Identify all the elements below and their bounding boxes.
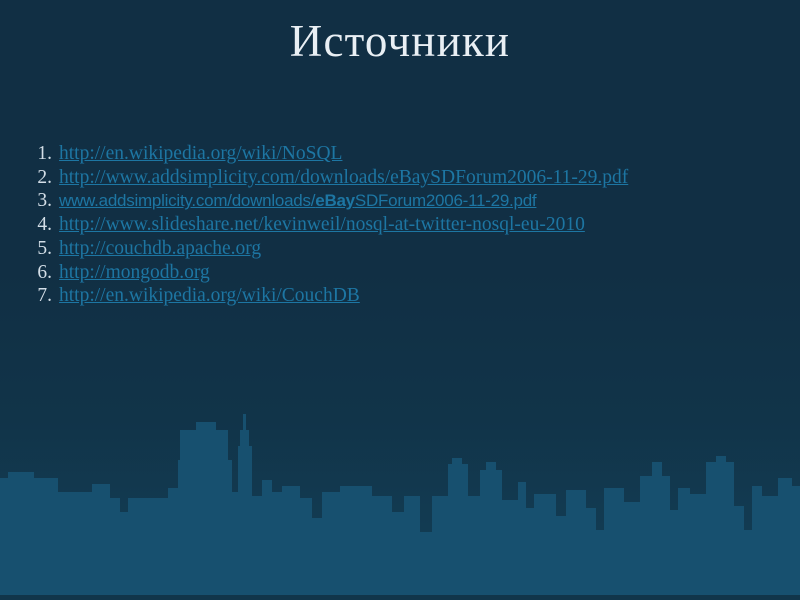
reference-link-1[interactable]: http://en.wikipedia.org/wiki/NoSQL bbox=[59, 142, 778, 165]
list-item: 4. http://www.slideshare.net/kevinweil/n… bbox=[22, 213, 778, 236]
reference-link-6[interactable]: http://mongodb.org bbox=[59, 261, 778, 284]
bottom-edge-strip bbox=[0, 595, 800, 600]
list-item-number: 4. bbox=[22, 213, 59, 236]
reference-link-3-prefix: www.addsimplicity.com/downloads/ bbox=[59, 191, 315, 210]
reference-link-7[interactable]: http://en.wikipedia.org/wiki/CouchDB bbox=[59, 284, 778, 307]
page-title: Источники bbox=[0, 16, 800, 68]
list-item: 7. http://en.wikipedia.org/wiki/CouchDB bbox=[22, 284, 778, 307]
list-item: 6. http://mongodb.org bbox=[22, 261, 778, 284]
list-item: 2. http://www.addsimplicity.com/download… bbox=[22, 166, 778, 189]
list-item-number: 3. bbox=[22, 189, 59, 212]
list-item: 3. www.addsimplicity.com/downloads/eBayS… bbox=[22, 189, 778, 212]
slide-sources: Источники 1. http://en.wikipedia.org/wik… bbox=[0, 0, 800, 600]
reference-link-4[interactable]: http://www.slideshare.net/kevinweil/nosq… bbox=[59, 213, 778, 236]
list-item-number: 2. bbox=[22, 166, 59, 189]
list-item-number: 7. bbox=[22, 284, 59, 307]
city-skyline-graphic bbox=[0, 400, 800, 600]
list-item-number: 5. bbox=[22, 237, 59, 260]
references-list: 1. http://en.wikipedia.org/wiki/NoSQL 2.… bbox=[22, 142, 778, 308]
list-item: 1. http://en.wikipedia.org/wiki/NoSQL bbox=[22, 142, 778, 165]
list-item: 5. http://couchdb.apache.org bbox=[22, 237, 778, 260]
reference-link-3-ebay-bold: eBay bbox=[315, 191, 355, 210]
reference-link-3-suffix: SDForum2006-11-29.pdf bbox=[355, 191, 537, 210]
list-item-number: 1. bbox=[22, 142, 59, 165]
reference-link-2[interactable]: http://www.addsimplicity.com/downloads/e… bbox=[59, 166, 778, 189]
list-item-number: 6. bbox=[22, 261, 59, 284]
reference-link-3[interactable]: www.addsimplicity.com/downloads/eBaySDFo… bbox=[59, 189, 778, 212]
reference-link-5[interactable]: http://couchdb.apache.org bbox=[59, 237, 778, 260]
